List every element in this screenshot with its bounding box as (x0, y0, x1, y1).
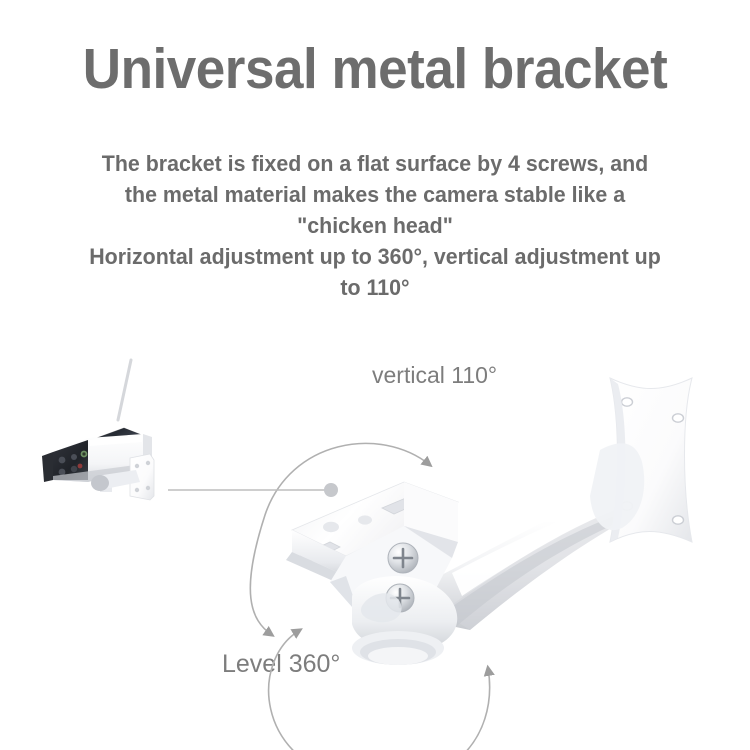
description-line-1: The bracket is fixed on a flat surface b… (19, 148, 732, 179)
description-line-3: "chicken head" (19, 210, 732, 241)
page-title: Universal metal bracket (26, 38, 724, 100)
four-screw-wall-plate (590, 378, 692, 542)
description-line-5: to 110° (19, 272, 732, 303)
wifi-antenna-icon (118, 360, 131, 420)
description-block: The bracket is fixed on a flat surface b… (19, 148, 732, 303)
product-feature-image: Universal metal bracket The bracket is f… (0, 0, 750, 750)
product-diagram (0, 330, 750, 750)
description-line-4: Horizontal adjustment up to 360°, vertic… (19, 241, 732, 272)
solar-bullet-camera (42, 360, 154, 500)
camera-leader-line (168, 483, 338, 497)
description-line-2: the metal material makes the camera stab… (19, 179, 732, 210)
